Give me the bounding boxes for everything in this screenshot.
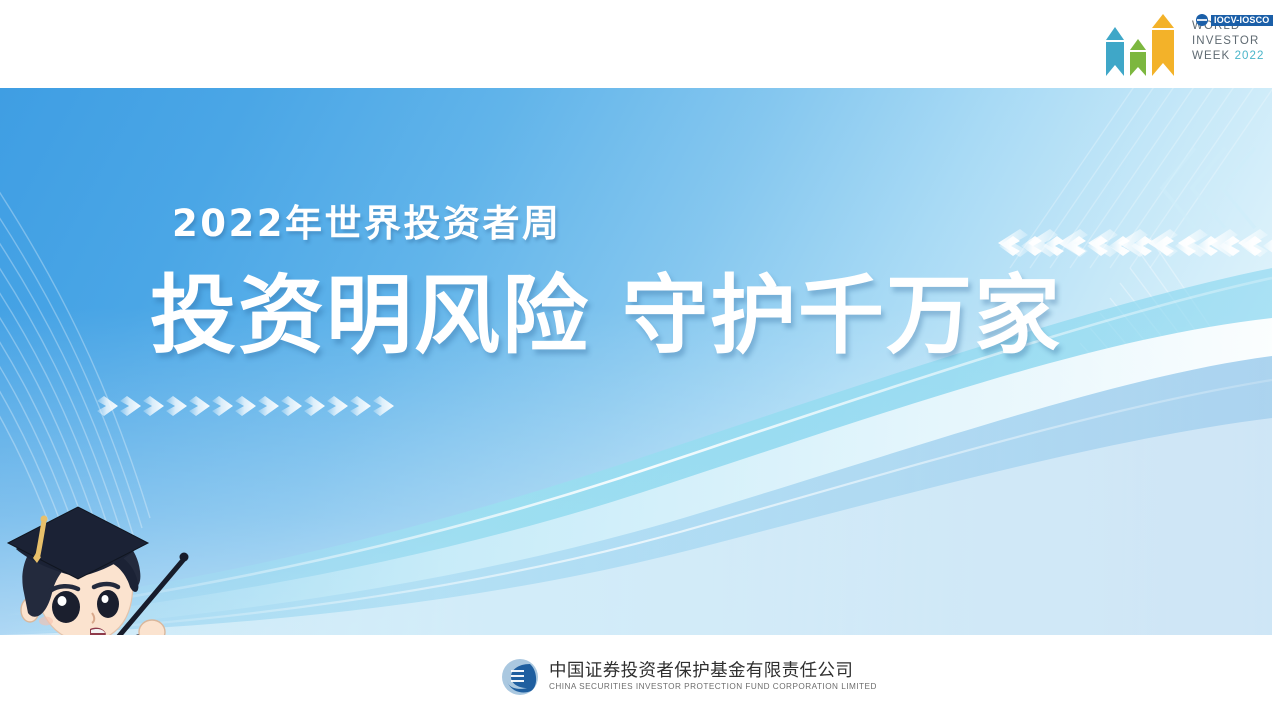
sipf-name-cn: 中国证券投资者保护基金有限责任公司 xyxy=(549,661,877,681)
pencil-yellow-icon xyxy=(1152,14,1174,76)
wiw-line-week-year: WEEK 2022 xyxy=(1192,49,1264,64)
chevron-strip-top-right xyxy=(999,236,1272,256)
iosco-label: IOCV-IOSCO xyxy=(1211,15,1273,26)
pencils-icon xyxy=(1098,12,1190,82)
footer-bar: 中国证券投资者保护基金有限责任公司 CHINA SECURITIES INVES… xyxy=(0,635,1280,719)
sipf-mark-icon xyxy=(500,657,540,697)
wiw-text-block: IOCV-IOSCO WORLD INVESTOR WEEK 2022 xyxy=(1192,12,1264,84)
sipf-name-en: CHINA SECURITIES INVESTOR PROTECTION FUN… xyxy=(549,681,877,693)
blush xyxy=(39,617,53,626)
world-investor-week-logo: IOCV-IOSCO WORLD INVESTOR WEEK 2022 xyxy=(1094,4,1264,84)
chevron-strip-bottom-left xyxy=(97,396,394,416)
sipf-text-block: 中国证券投资者保护基金有限责任公司 CHINA SECURITIES INVES… xyxy=(549,661,877,693)
wiw-year-label: 2022 xyxy=(1235,50,1265,62)
pencil-green-icon xyxy=(1130,39,1146,76)
top-header-bar: IOCV-IOSCO WORLD INVESTOR WEEK 2022 xyxy=(0,0,1280,88)
eye-right xyxy=(97,590,119,618)
iosco-badge: IOCV-IOSCO xyxy=(1196,14,1273,26)
wiw-week-label: WEEK xyxy=(1192,50,1230,62)
wiw-line-investor: INVESTOR xyxy=(1192,34,1264,49)
pencil-teal-icon xyxy=(1106,27,1124,76)
eye-left xyxy=(52,591,80,623)
sipf-logo: 中国证券投资者保护基金有限责任公司 CHINA SECURITIES INVES… xyxy=(500,657,877,697)
globe-icon xyxy=(1196,14,1208,26)
